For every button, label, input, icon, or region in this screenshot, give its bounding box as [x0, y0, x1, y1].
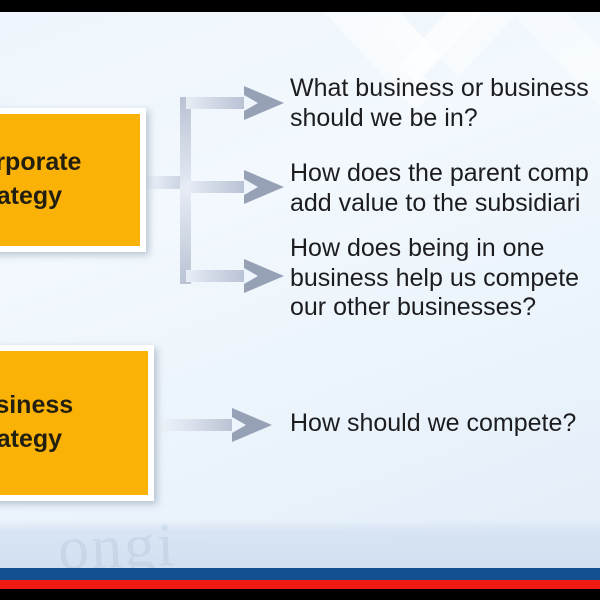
question-text-2: How does the parent comp add value to th… [290, 159, 600, 218]
connector-branch-3 [186, 270, 248, 282]
watermark-text: ongi [57, 510, 178, 568]
connector-branch-2 [186, 181, 248, 193]
question-text-1: What business or business should we be i… [290, 74, 600, 133]
slide-content: ongi Corporate Strategy Business Strateg… [0, 12, 600, 568]
business-strategy-label: Business Strategy [0, 389, 73, 457]
question-text-3: How does being in one business help us c… [290, 234, 600, 323]
business-strategy-box[interactable]: Business Strategy [0, 345, 154, 501]
arrow-notch-4 [232, 417, 246, 433]
blue-accent-bar [0, 568, 600, 580]
connector-branch-1 [186, 97, 248, 109]
slide-canvas: ongi Corporate Strategy Business Strateg… [0, 0, 600, 600]
letterbox-top-bar [0, 0, 600, 12]
arrow-notch-1 [244, 95, 258, 111]
corporate-strategy-box[interactable]: Corporate Strategy [0, 108, 146, 252]
arrow-notch-3 [244, 268, 258, 284]
arrow-notch-2 [244, 179, 258, 195]
red-accent-bar [0, 580, 600, 589]
connector-branch-4 [156, 419, 236, 431]
corporate-strategy-label: Corporate Strategy [0, 146, 81, 214]
question-text-4: How should we compete? [290, 409, 600, 439]
letterbox-bottom-bar [0, 589, 600, 600]
